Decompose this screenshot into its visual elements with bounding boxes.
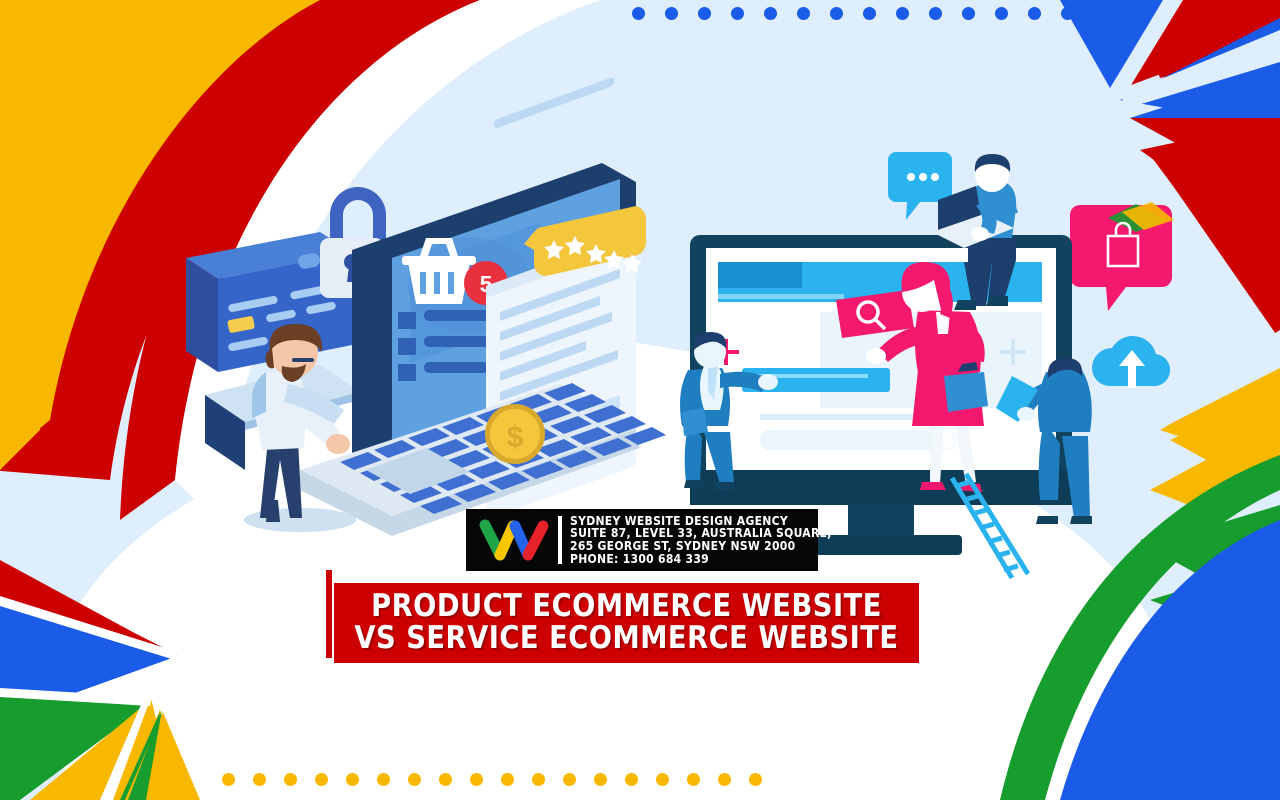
ecommerce-illustration: 5 [0, 0, 1280, 800]
agency-address-card: SYDNEY WEBSITE DESIGN AGENCY SUITE 87, L… [466, 509, 818, 571]
dollar-symbol: $ [507, 421, 524, 454]
w-logo [472, 514, 556, 566]
title-line-2: VS SERVICE ECOMMERCE WEBSITE [340, 622, 913, 654]
address-lines: SYDNEY WEBSITE DESIGN AGENCY SUITE 87, L… [570, 515, 840, 565]
address-line-phone: PHONE: 1300 684 339 [570, 553, 832, 566]
logo-divider [558, 516, 562, 564]
laptop-scene: 5 [186, 77, 666, 536]
banner-canvas: 5 [0, 0, 1280, 800]
dollar-coin-icon: $ [485, 404, 545, 464]
title-banner: PRODUCT ECOMMERCE WEBSITE VS SERVICE ECO… [334, 583, 919, 663]
title-line-1: PRODUCT ECOMMERCE WEBSITE [340, 590, 913, 622]
cloud-upload-icon [1092, 336, 1170, 388]
w-logo-icon [474, 515, 554, 565]
